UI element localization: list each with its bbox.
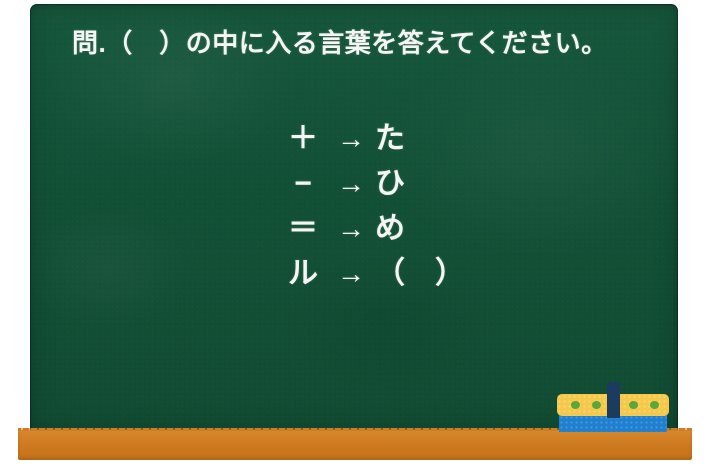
quiz-question-title: 問.（ ）の中に入る言葉を答えてください。 — [72, 26, 638, 60]
puzzle-row-right-answer: ひ — [373, 161, 435, 206]
eraser-dot — [571, 401, 580, 409]
chalkboard: 問.（ ）の中に入る言葉を答えてください。 ＋ → た − → ひ ＝ → め … — [30, 4, 678, 432]
eraser-dot — [592, 401, 601, 409]
arrow-right-icon: → — [329, 251, 373, 296]
puzzle-row-left-symbol: ル — [277, 251, 329, 296]
puzzle-answer-blank: （ ） — [373, 251, 465, 296]
puzzle-row-left-symbol: ＋ — [277, 116, 329, 161]
puzzle-row-right-answer: め — [373, 206, 435, 251]
eraser-dot — [650, 401, 659, 409]
puzzle-row: − → ひ — [277, 161, 465, 206]
puzzle-row: ＋ → た — [277, 116, 465, 161]
eraser-dot — [629, 401, 638, 409]
arrow-right-icon: → — [329, 161, 373, 206]
arrow-right-icon: → — [329, 206, 373, 251]
puzzle-row: ＝ → め — [277, 206, 465, 251]
puzzle-row-unknown: ル → （ ） — [277, 251, 465, 296]
chalk-tray — [18, 430, 692, 460]
blackboard-eraser — [557, 382, 669, 432]
puzzle-row-left-symbol: ＝ — [277, 206, 329, 251]
eraser-handle — [607, 382, 620, 418]
puzzle-row-right-answer: た — [373, 116, 435, 161]
puzzle-equation-list: ＋ → た − → ひ ＝ → め ル → （ ） — [277, 116, 465, 296]
arrow-right-icon: → — [329, 116, 373, 161]
puzzle-row-left-symbol: − — [277, 161, 329, 206]
illustration-canvas: 問.（ ）の中に入る言葉を答えてください。 ＋ → た − → ひ ＝ → め … — [0, 0, 710, 472]
